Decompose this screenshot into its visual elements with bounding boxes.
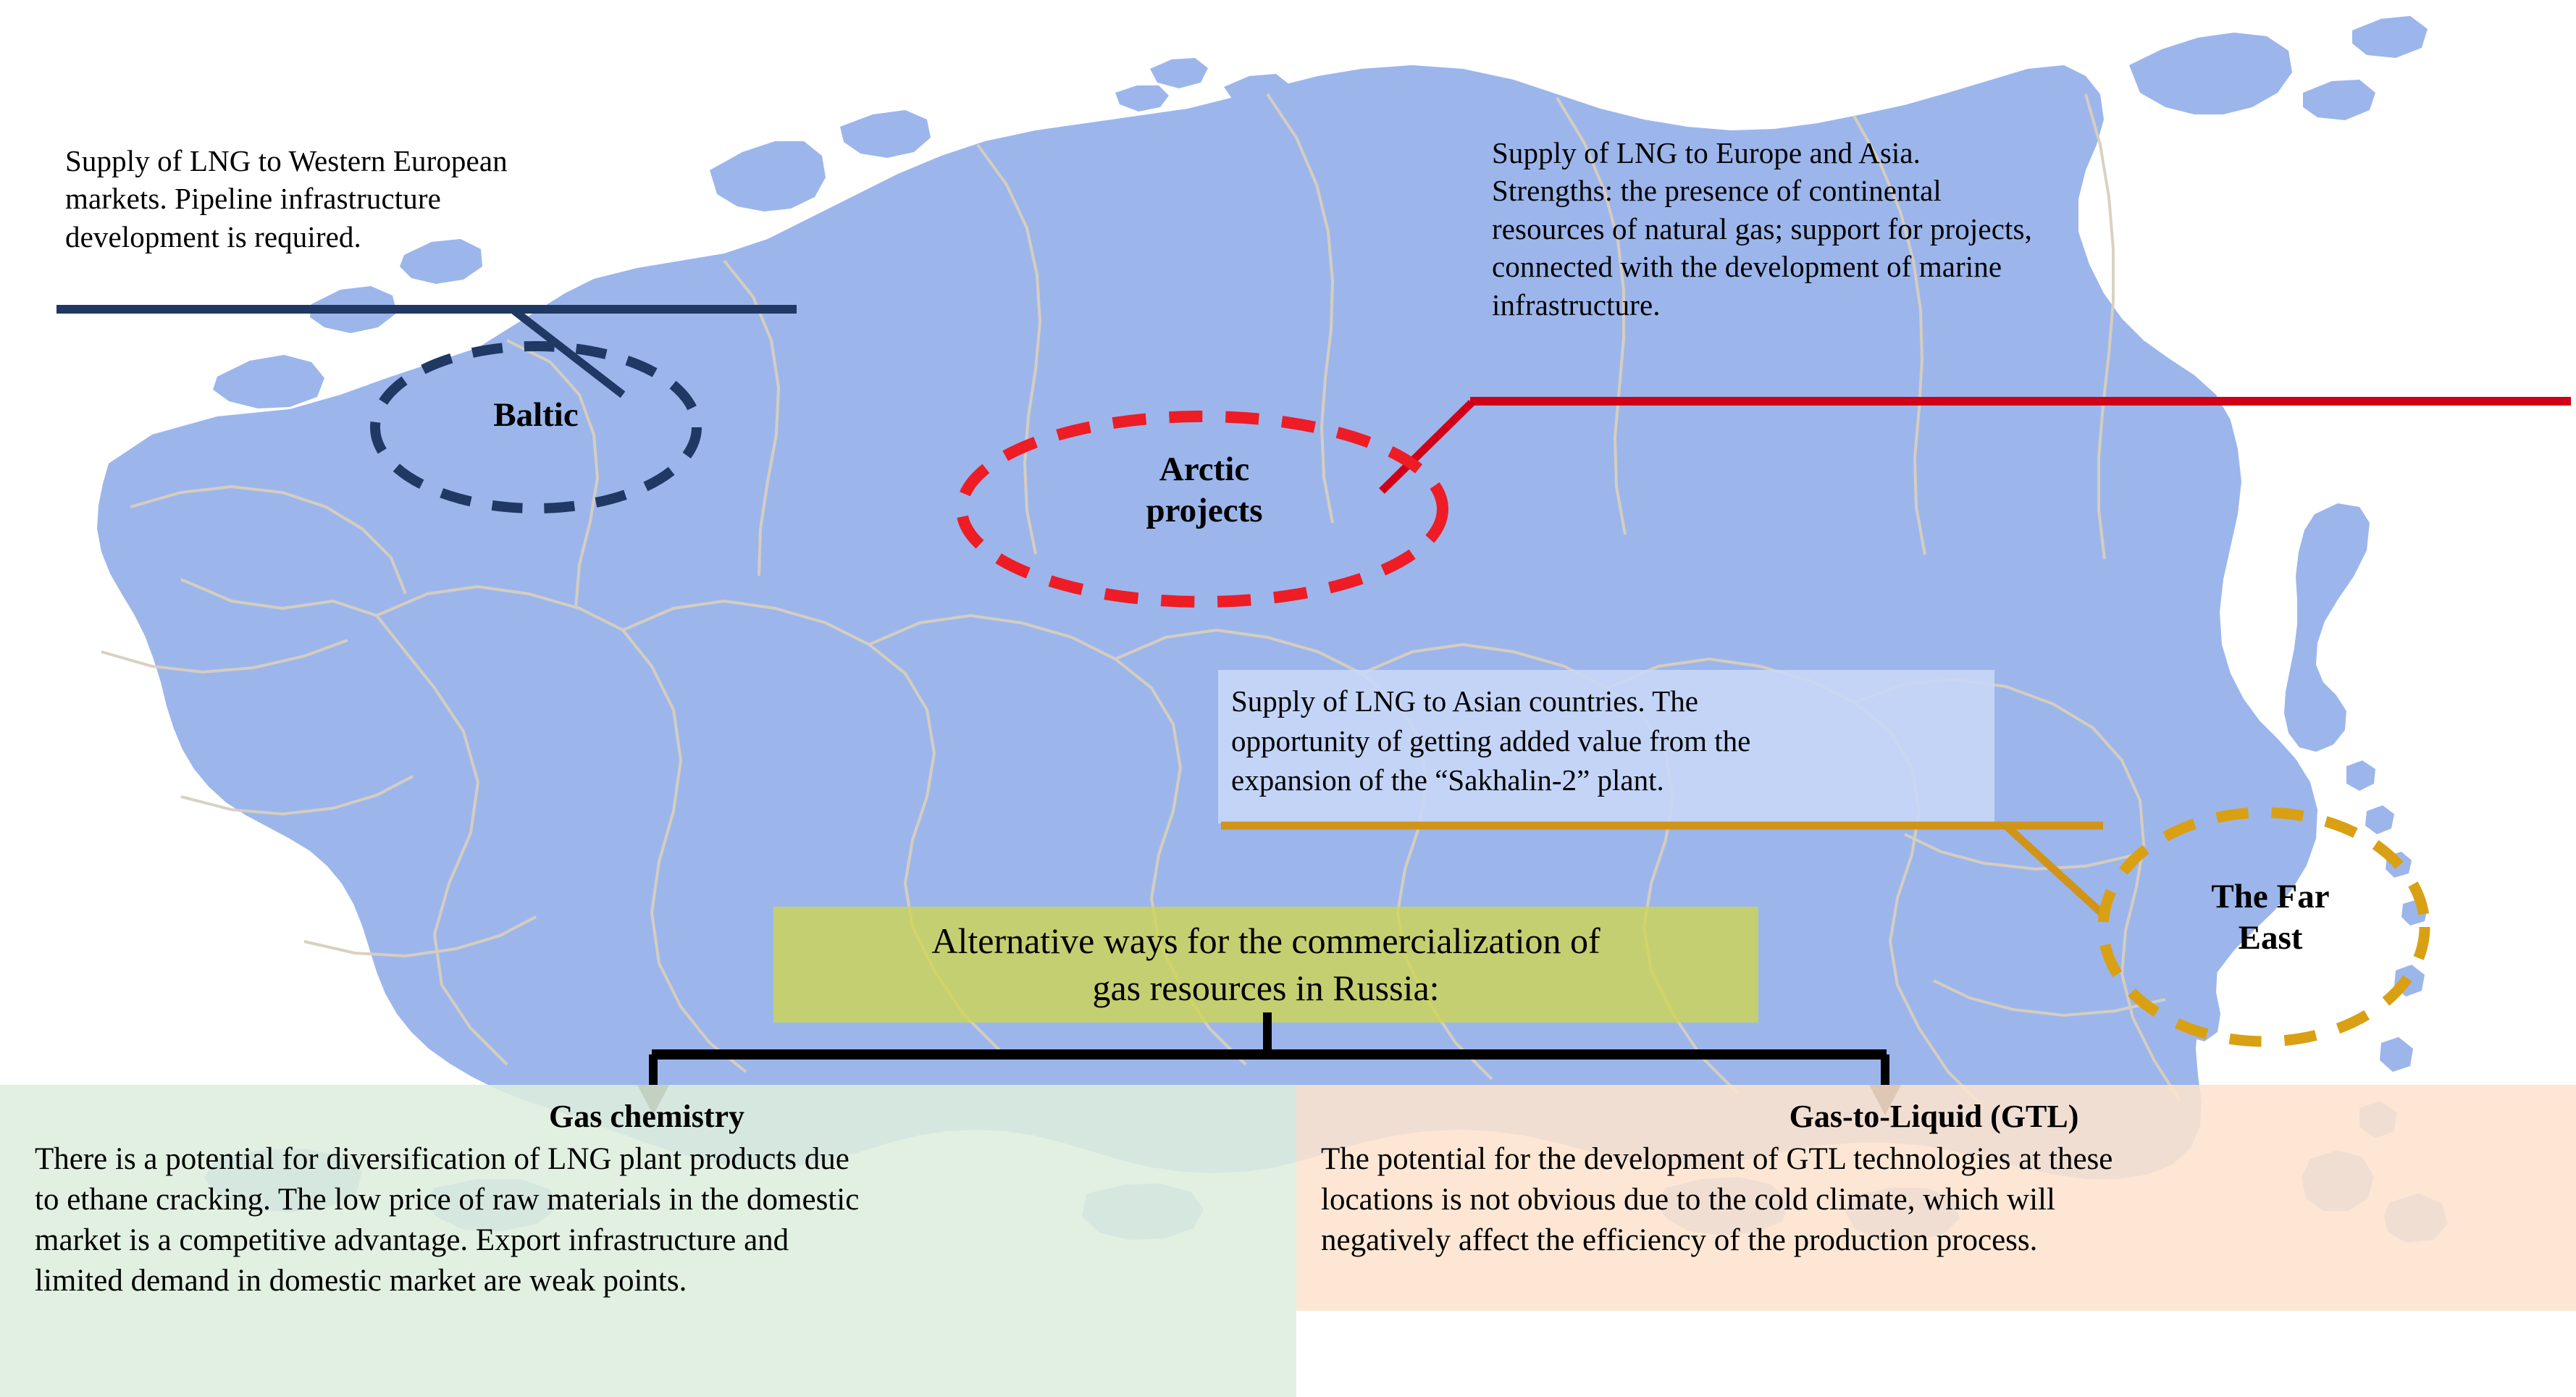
region-label-far-east: The Far East <box>2155 876 2386 960</box>
option-panel-gas-to-liquid: Gas-to-Liquid (GTL) The potential for th… <box>1296 1085 2576 1311</box>
option-body-gas-to-liquid: The potential for the development of GTL… <box>1321 1139 2547 1261</box>
region-label-baltic: Baltic <box>406 395 666 436</box>
option-title-gas-chemistry: Gas chemistry <box>35 1098 1259 1135</box>
region-label-arctic: Arctic projects <box>1063 449 1346 532</box>
arctic-leader-line <box>1369 377 2576 550</box>
central-banner: Alternative ways for the commercializati… <box>773 907 1758 1023</box>
option-body-gas-chemistry: There is a potential for diversification… <box>35 1139 1259 1301</box>
option-panel-gas-chemistry: Gas chemistry There is a potential for d… <box>0 1085 1296 1397</box>
central-banner-text: Alternative ways for the commercializati… <box>931 918 1600 1012</box>
fareast-note: Supply of LNG to Asian countries. The op… <box>1218 670 1994 823</box>
option-title-gas-to-liquid: Gas-to-Liquid (GTL) <box>1321 1098 2547 1135</box>
arctic-note: Supply of LNG to Europe and Asia. Streng… <box>1492 134 2296 324</box>
baltic-note: Supply of LNG to Western European market… <box>65 142 775 256</box>
figure-canvas: Supply of LNG to Western European market… <box>0 0 2576 1397</box>
